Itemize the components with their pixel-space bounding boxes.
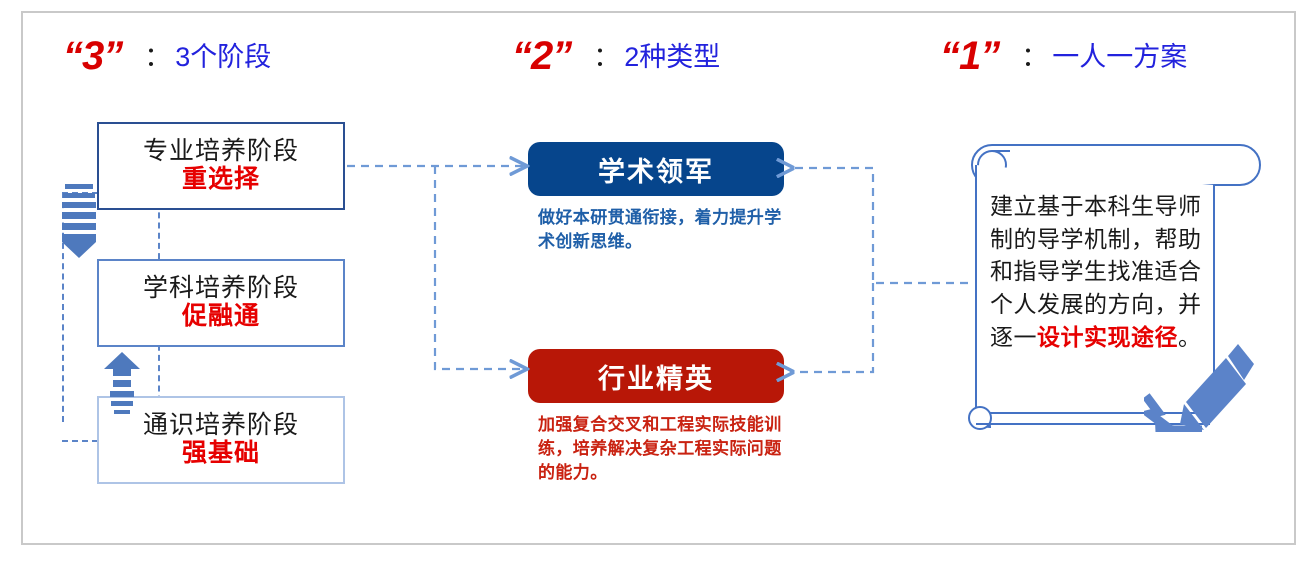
heading-subtitle: 2种类型 [624, 35, 720, 74]
stage-box-discipline[interactable]: 学科培养阶段 促融通 [97, 259, 345, 347]
diagram-canvas: “3” ： 3个阶段 “2” ： 2种类型 “1” ： 一人一方案 [0, 0, 1316, 562]
heading-one-plan: “1” ： 一人一方案 [940, 34, 1187, 79]
heading-number: “3” [63, 34, 122, 79]
type-card-academic[interactable]: 学术领军 做好本研贯通衔接，着力提升学术创新思维。 [528, 142, 784, 254]
type-description: 加强复合交叉和工程实际技能训练，培养解决复杂工程实际问题的能力。 [528, 413, 784, 485]
striped-arrow-down-icon [57, 182, 101, 260]
type-pill-label: 行业精英 [528, 349, 784, 403]
heading-colon: ： [571, 35, 624, 74]
heading-three-stages: “3” ： 3个阶段 [63, 34, 271, 79]
type-description: 做好本研贯通衔接，着力提升学术创新思维。 [528, 206, 784, 254]
scroll-panel[interactable]: 建立基于本科生导师制的导学机制，帮助和指导学生找准适合个人发展的方向，并逐一设计… [968, 128, 1264, 436]
stage-keyword: 强基础 [182, 439, 260, 468]
heading-number: “2” [512, 34, 571, 79]
pen-icon [1144, 340, 1254, 432]
heading-number: “1” [940, 34, 999, 79]
scroll-body-text: 建立基于本科生导师制的导学机制，帮助和指导学生找准适合个人发展的方向，并逐一设计… [990, 190, 1214, 353]
stage-keyword: 重选择 [182, 165, 260, 194]
type-pill-label: 学术领军 [528, 142, 784, 196]
stage-title: 通识培养阶段 [143, 412, 299, 440]
stage-title: 学科培养阶段 [143, 275, 299, 303]
heading-subtitle: 一人一方案 [1052, 35, 1187, 74]
stage-box-professional[interactable]: 专业培养阶段 重选择 [97, 122, 345, 210]
heading-colon: ： [122, 35, 175, 74]
type-card-industry[interactable]: 行业精英 加强复合交叉和工程实际技能训练，培养解决复杂工程实际问题的能力。 [528, 349, 784, 485]
stage-keyword: 促融通 [182, 302, 260, 331]
heading-colon: ： [999, 35, 1052, 74]
stage-title: 专业培养阶段 [143, 138, 299, 166]
heading-subtitle: 3个阶段 [175, 35, 271, 74]
heading-two-types: “2” ： 2种类型 [512, 34, 720, 79]
striped-arrow-up-icon [100, 352, 144, 422]
